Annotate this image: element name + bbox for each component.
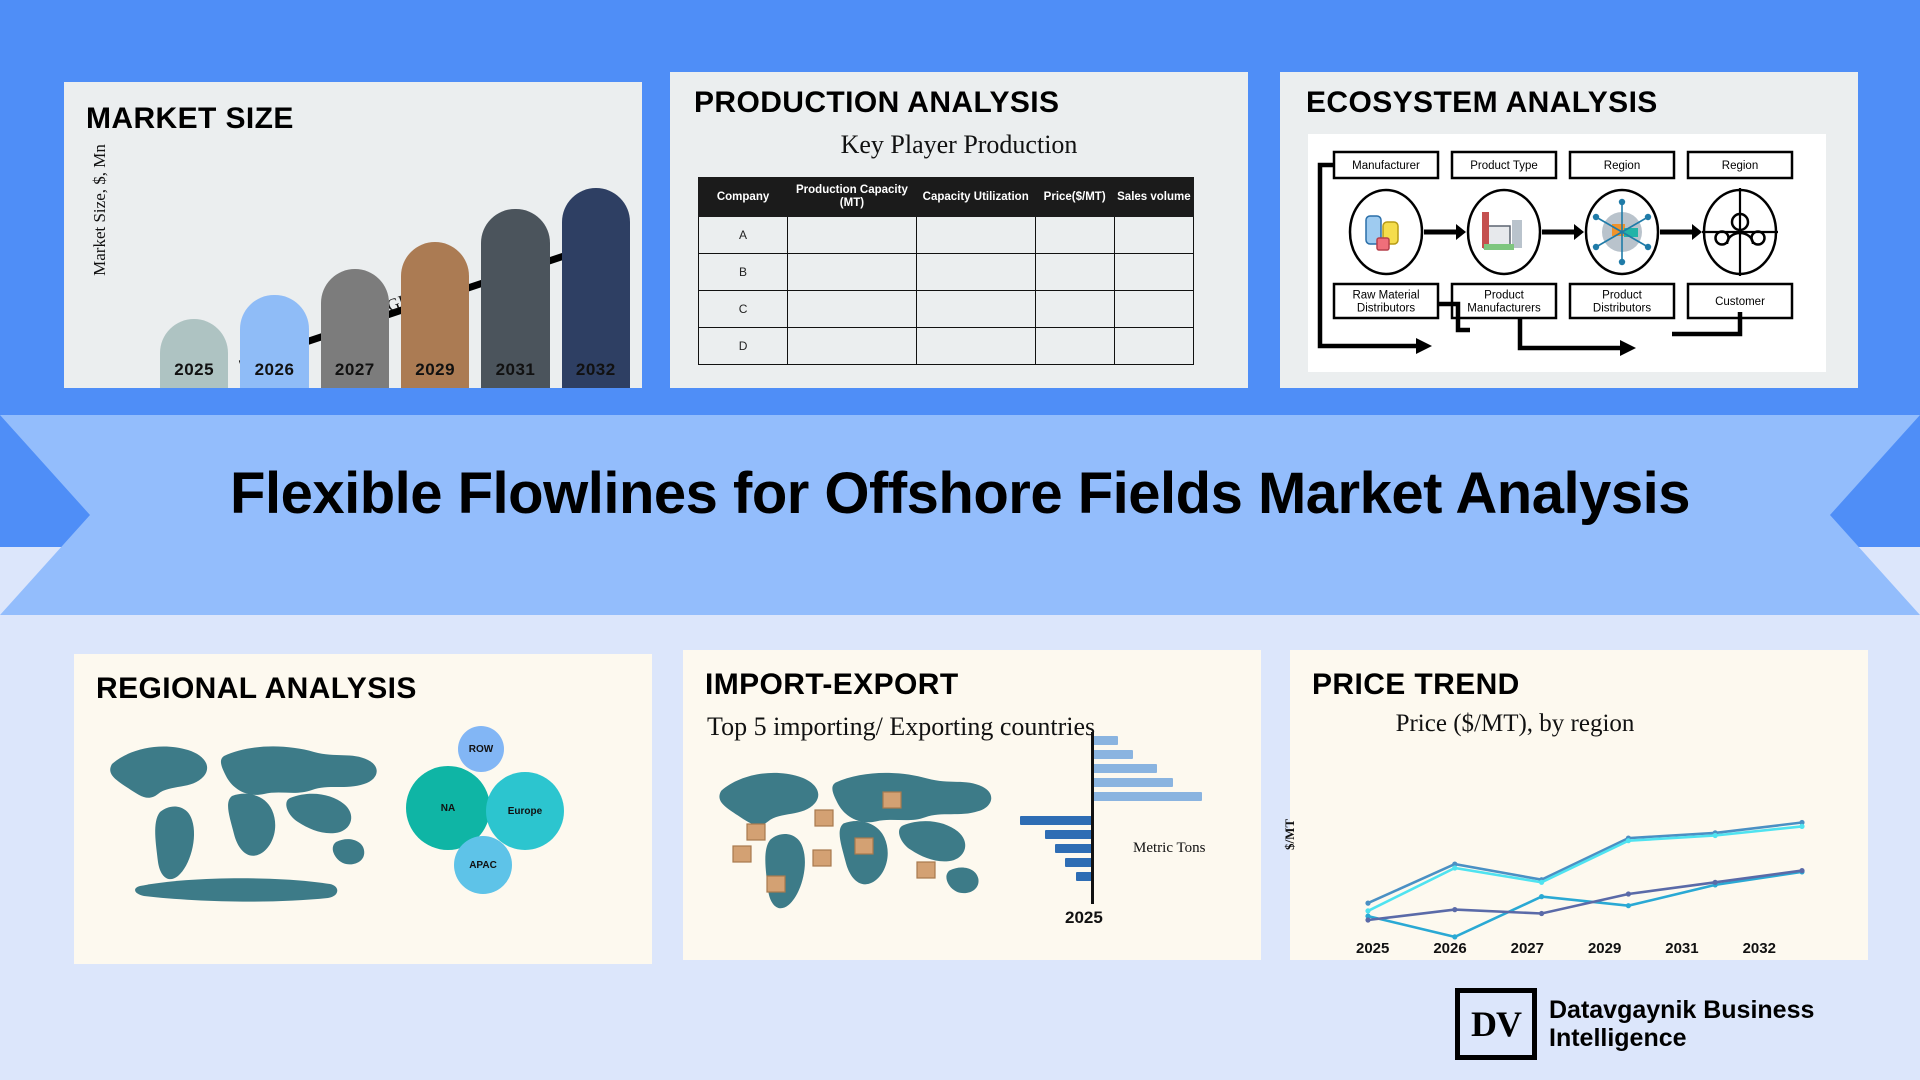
price-trend-point (1799, 824, 1804, 829)
market-size-bar: 2025 (160, 319, 228, 388)
table-cell (916, 291, 1035, 328)
market-size-card: MARKET SIZE Market Size, $, Mn CAGR 2025… (64, 82, 642, 388)
price-trend-point (1452, 934, 1457, 939)
map-landmass (228, 794, 275, 856)
map-landmass (832, 773, 991, 822)
table-column-header: Company (699, 178, 788, 217)
map-landmass (135, 878, 337, 901)
parcel-icon (733, 846, 751, 862)
parcel-icon (747, 824, 765, 840)
export-bar (1065, 858, 1092, 867)
region-bubble-chart: NAEuropeROWAPAC (406, 718, 606, 918)
map-landmass (946, 867, 978, 893)
trade-routes-map-icon (705, 758, 1005, 938)
price-trend-y-axis-label: $/MT (1282, 819, 1298, 850)
import-bar (1092, 736, 1118, 745)
price-trend-point (1626, 838, 1631, 843)
price-trend-point (1452, 865, 1457, 870)
eco-node-label: Distributors (1357, 303, 1415, 315)
eco-node-label: Manufacturer (1352, 160, 1420, 172)
logo-line-2: Intelligence (1549, 1024, 1814, 1052)
table-cell: C (699, 291, 788, 328)
table-cell: A (699, 217, 788, 254)
table-column-header: Capacity Utilization (916, 178, 1035, 217)
price-trend-point (1365, 917, 1370, 922)
table-body: ABCD (699, 217, 1194, 365)
price-trend-point (1626, 891, 1631, 896)
region-bubble-label: ROW (469, 744, 493, 755)
price-trend-x-label: 2025 (1356, 940, 1389, 957)
region-bubble-label: Europe (508, 806, 542, 817)
import-export-unit-label: Metric Tons (1133, 840, 1205, 857)
price-trend-line-chart (1350, 802, 1820, 952)
map-landmass (286, 794, 351, 834)
price-trend-point (1365, 908, 1370, 913)
logo-mark: DV (1455, 988, 1537, 1060)
table-row: A (699, 217, 1194, 254)
price-trend-x-label: 2029 (1588, 940, 1621, 957)
region-bubble-label: NA (441, 803, 455, 814)
import-bar (1092, 792, 1202, 801)
region-bubble-label: APAC (469, 860, 497, 871)
parcel-icon (813, 850, 831, 866)
parcel-icon (767, 876, 785, 892)
import-bar (1092, 750, 1133, 759)
export-bar (1076, 872, 1092, 881)
price-trend-subtitle: Price ($/MT), by region (1350, 708, 1680, 739)
price-trend-point (1539, 894, 1544, 899)
table-cell: D (699, 328, 788, 365)
icon-part (1484, 244, 1514, 250)
table-column-header: Production Capacity(MT) (788, 178, 917, 217)
parcel-icon (855, 838, 873, 854)
icon-part (1645, 214, 1651, 220)
eco-node-label: Manufacturers (1467, 303, 1541, 315)
table-cell (916, 254, 1035, 291)
chart-center-axis (1091, 732, 1094, 904)
world-map-icon (100, 726, 390, 916)
icon-part (1645, 244, 1651, 250)
ecosystem-analysis-card: ECOSYSTEM ANALYSIS ManufacturerProduct T… (1280, 72, 1858, 388)
import-export-bar-chart: 2025 Metric Tons (1007, 732, 1217, 932)
flow-arrow-icon (1574, 224, 1584, 240)
parcel-icon (917, 862, 935, 878)
eco-node-label: Product Type (1470, 160, 1538, 172)
icon-part (1482, 212, 1489, 248)
export-bar (1055, 844, 1092, 853)
price-trend-point (1713, 880, 1718, 885)
table-cell: B (699, 254, 788, 291)
table-row: C (699, 291, 1194, 328)
market-size-bar-label: 2025 (160, 360, 228, 380)
price-trend-x-label: 2032 (1743, 940, 1776, 957)
market-size-bar-label: 2029 (401, 360, 469, 380)
icon-part (1593, 214, 1599, 220)
ecosystem-analysis-title: ECOSYSTEM ANALYSIS (1306, 86, 1658, 120)
table-column-header: Price($/MT) (1035, 178, 1114, 217)
table-cell (788, 291, 917, 328)
price-trend-x-label: 2026 (1433, 940, 1466, 957)
table-cell (1035, 291, 1114, 328)
price-trend-x-axis: 202520262027202920312032 (1356, 940, 1776, 957)
map-landmass (765, 834, 805, 908)
regional-analysis-card: REGIONAL ANALYSIS NAEuropeROWAPAC (74, 654, 652, 964)
table-cell (1114, 291, 1193, 328)
table-cell (916, 328, 1035, 365)
eco-node-label: Customer (1715, 296, 1765, 308)
table-cell (1035, 254, 1114, 291)
page-title: Flexible Flowlines for Offshore Fields M… (0, 460, 1920, 527)
feedback-loop-arrow-icon (1620, 340, 1636, 356)
import-export-card: IMPORT-EXPORT Top 5 importing/ Exporting… (683, 650, 1261, 960)
market-size-title: MARKET SIZE (86, 102, 294, 136)
table-cell (1114, 217, 1193, 254)
price-trend-title: PRICE TREND (1312, 668, 1520, 702)
table-cell (788, 254, 917, 291)
export-bar (1045, 830, 1092, 839)
map-landmass (155, 806, 194, 879)
table-cell (1114, 254, 1193, 291)
icon-part (1619, 259, 1625, 265)
market-size-bar-label: 2031 (481, 360, 549, 380)
eco-node-label: Region (1722, 160, 1758, 172)
price-trend-point (1539, 911, 1544, 916)
map-landmass (899, 821, 965, 861)
market-size-bar: 2027 (321, 269, 389, 388)
import-export-year-label: 2025 (1065, 908, 1103, 928)
feedback-loop-arrow-icon (1416, 338, 1432, 354)
key-player-production-table: CompanyProduction Capacity(MT)Capacity U… (698, 177, 1194, 365)
price-trend-point (1626, 903, 1631, 908)
flow-arrow-icon (1456, 224, 1466, 240)
table-cell (916, 217, 1035, 254)
eco-node-label: Distributors (1593, 303, 1651, 315)
price-trend-point (1452, 907, 1457, 912)
price-trend-card: PRICE TREND Price ($/MT), by region $/MT… (1290, 650, 1868, 960)
market-size-bar: 2032 (562, 188, 630, 388)
icon-part (1377, 238, 1389, 250)
logo-text: Datavgaynik Business Intelligence (1549, 996, 1814, 1052)
export-bar (1020, 816, 1092, 825)
table-column-header: Sales volume (1114, 178, 1193, 217)
eco-node-label: Product (1602, 290, 1642, 302)
table-row: D (699, 328, 1194, 365)
table-header-row: CompanyProduction Capacity(MT)Capacity U… (699, 178, 1194, 217)
import-bar (1092, 764, 1157, 773)
table-cell (1114, 328, 1193, 365)
table-cell (1035, 328, 1114, 365)
production-analysis-subtitle: Key Player Production (670, 130, 1248, 160)
production-analysis-title: PRODUCTION ANALYSIS (694, 86, 1059, 120)
company-logo: DV Datavgaynik Business Intelligence (1455, 988, 1814, 1060)
price-trend-point (1713, 833, 1718, 838)
parcel-icon (883, 792, 901, 808)
regional-analysis-title: REGIONAL ANALYSIS (96, 672, 417, 706)
price-trend-x-label: 2027 (1511, 940, 1544, 957)
map-landmass (221, 746, 377, 794)
table-cell (1035, 217, 1114, 254)
map-landmass (719, 773, 818, 825)
map-landmass (333, 839, 365, 864)
market-size-bar-label: 2026 (240, 360, 308, 380)
eco-node-label: Raw Material (1352, 290, 1419, 302)
table-cell (788, 217, 917, 254)
price-trend-point (1539, 880, 1544, 885)
market-size-bar-chart: 202520262027202920312032 (160, 188, 630, 388)
icon-part (1512, 220, 1522, 248)
import-export-title: IMPORT-EXPORT (705, 668, 959, 702)
market-size-bar: 2031 (481, 209, 549, 388)
icon-part (1619, 199, 1625, 205)
production-analysis-card: PRODUCTION ANALYSIS Key Player Productio… (670, 72, 1248, 388)
region-bubble: ROW (458, 726, 504, 772)
table-row: B (699, 254, 1194, 291)
eco-node-label: Region (1604, 160, 1640, 172)
feedback-loop-arrow-icon (1520, 318, 1620, 348)
region-bubble: Europe (486, 772, 564, 850)
price-trend-point (1365, 901, 1370, 906)
eco-node-label: Product (1484, 290, 1524, 302)
market-size-bar: 2029 (401, 242, 469, 388)
market-size-y-axis-label: Market Size, $, Mn (90, 130, 110, 290)
parcel-icon (815, 810, 833, 826)
map-landmass (110, 746, 207, 797)
flow-arrow-icon (1692, 224, 1702, 240)
price-trend-x-label: 2031 (1665, 940, 1698, 957)
region-bubble: APAC (454, 836, 512, 894)
price-trend-point (1799, 868, 1804, 873)
logo-line-1: Datavgaynik Business (1549, 996, 1814, 1024)
market-size-bar-label: 2027 (321, 360, 389, 380)
market-size-bar: 2026 (240, 295, 308, 388)
import-bar (1092, 778, 1173, 787)
market-size-bar-label: 2032 (562, 360, 630, 380)
table-cell (788, 328, 917, 365)
ecosystem-flow-diagram: ManufacturerProduct TypeRegionRegionRaw … (1308, 134, 1826, 372)
icon-part (1593, 244, 1599, 250)
price-trend-line (1368, 826, 1802, 911)
